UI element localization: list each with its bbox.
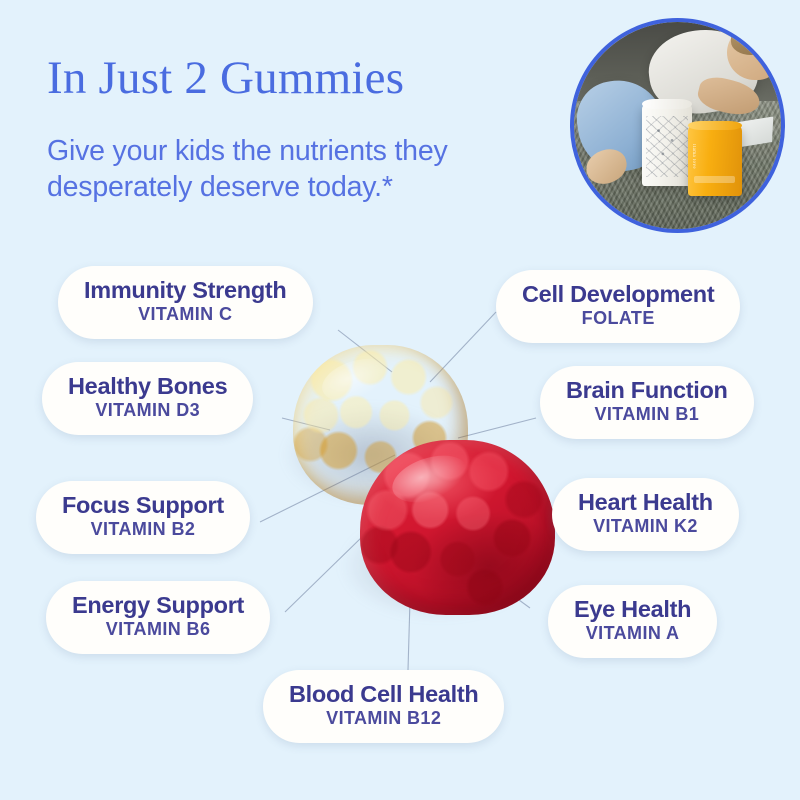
benefit-title: Focus Support (62, 492, 224, 518)
benefit-pill-energy-support[interactable]: Energy Support VITAMIN B6 (46, 581, 270, 654)
benefit-pill-healthy-bones[interactable]: Healthy Bones VITAMIN D3 (42, 362, 253, 435)
benefit-nutrient: VITAMIN B12 (326, 708, 441, 729)
connector-brain-function (458, 418, 536, 438)
benefit-pill-immunity-strength[interactable]: Immunity Strength VITAMIN C (58, 266, 313, 339)
benefit-title: Cell Development (522, 281, 714, 307)
benefit-title: Energy Support (72, 592, 244, 618)
benefit-pill-focus-support[interactable]: Focus Support VITAMIN B2 (36, 481, 250, 554)
benefit-title: Immunity Strength (84, 277, 287, 303)
benefit-nutrient: VITAMIN A (586, 623, 680, 644)
benefit-title: Eye Health (574, 596, 691, 622)
benefit-pill-blood-cell-health[interactable]: Blood Cell Health VITAMIN B12 (263, 670, 504, 743)
benefit-pill-heart-health[interactable]: Heart Health VITAMIN K2 (552, 478, 739, 551)
benefit-nutrient: VITAMIN K2 (593, 516, 698, 537)
benefit-pill-brain-function[interactable]: Brain Function VITAMIN B1 (540, 366, 754, 439)
benefit-nutrient: VITAMIN B2 (91, 519, 196, 540)
benefit-pill-eye-health[interactable]: Eye Health VITAMIN A (548, 585, 717, 658)
benefit-nutrient: VITAMIN B1 (594, 404, 699, 425)
red-gummy (360, 440, 555, 615)
benefit-nutrient: FOLATE (582, 308, 655, 329)
benefit-title: Heart Health (578, 489, 713, 515)
benefit-pill-cell-development[interactable]: Cell Development FOLATE (496, 270, 740, 343)
benefit-nutrient: VITAMIN D3 (95, 400, 200, 421)
red-gummy-body (360, 440, 555, 615)
benefit-title: Blood Cell Health (289, 681, 478, 707)
benefit-nutrient: VITAMIN C (138, 304, 232, 325)
benefit-title: Healthy Bones (68, 373, 227, 399)
benefit-title: Brain Function (566, 377, 728, 403)
benefit-nutrient: VITAMIN B6 (106, 619, 211, 640)
infographic-canvas: In Just 2 Gummies Give your kids the nut… (0, 0, 800, 800)
